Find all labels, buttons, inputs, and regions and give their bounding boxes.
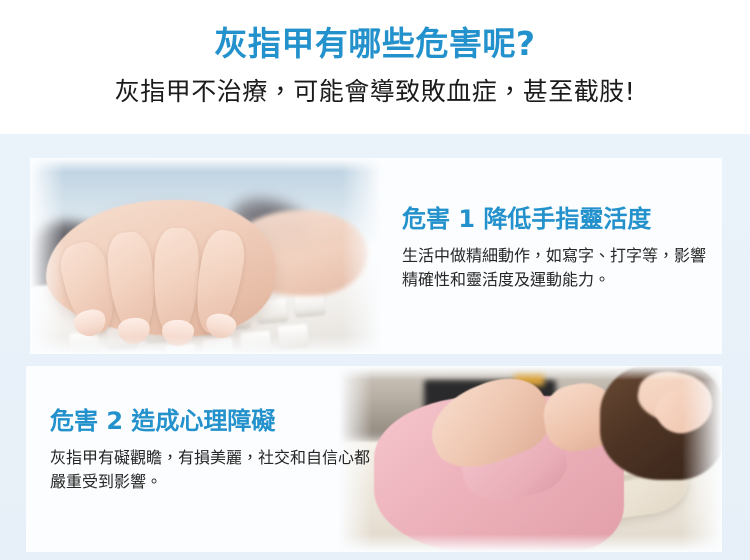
woman-lying-on-sofa-photo <box>338 366 722 552</box>
photo-keyboard-key <box>240 331 272 354</box>
photo-keyboard-key <box>277 324 309 349</box>
page-subtitle: 灰指甲不治療，可能會導致敗血症，甚至截肢! <box>115 64 636 107</box>
harm-card-1-heading: 危害 1 降低手指靈活度 <box>402 206 712 234</box>
page-header: 灰指甲有哪些危害呢? 灰指甲不治療，可能會導致敗血症，甚至截肢! <box>0 0 750 134</box>
content-area: 危害 1 降低手指靈活度 生活中做精細動作，如寫字、打字等，影響精確性和靈活度及… <box>0 134 750 560</box>
hands-typing-on-keyboard-photo <box>30 158 382 354</box>
harm-card-1-text: 危害 1 降低手指靈活度 生活中做精細動作，如寫字、打字等，影響精確性和靈活度及… <box>402 206 712 292</box>
promo-page: 灰指甲有哪些危害呢? 灰指甲不治療，可能會導致敗血症，甚至截肢! <box>0 0 750 560</box>
harm-card-1: 危害 1 降低手指靈活度 生活中做精細動作，如寫字、打字等，影響精確性和靈活度及… <box>30 158 722 354</box>
harm-card-2-heading: 危害 2 造成心理障礙 <box>50 408 380 436</box>
harm-card-2: 危害 2 造成心理障礙 灰指甲有礙觀瞻，有損美麗，社交和自信心都嚴重受到影響。 <box>26 366 722 552</box>
harm-card-1-body: 生活中做精細動作，如寫字、打字等，影響精確性和靈活度及運動能力。 <box>402 244 712 293</box>
harm-card-2-body: 灰指甲有礙觀瞻，有損美麗，社交和自信心都嚴重受到影響。 <box>50 446 380 495</box>
photo-keyboard-key <box>202 337 234 354</box>
page-title: 灰指甲有哪些危害呢? <box>214 0 535 64</box>
photo-keyboard-key <box>127 350 159 354</box>
harm-card-2-text: 危害 2 造成心理障礙 灰指甲有礙觀瞻，有損美麗，社交和自信心都嚴重受到影響。 <box>50 408 380 494</box>
